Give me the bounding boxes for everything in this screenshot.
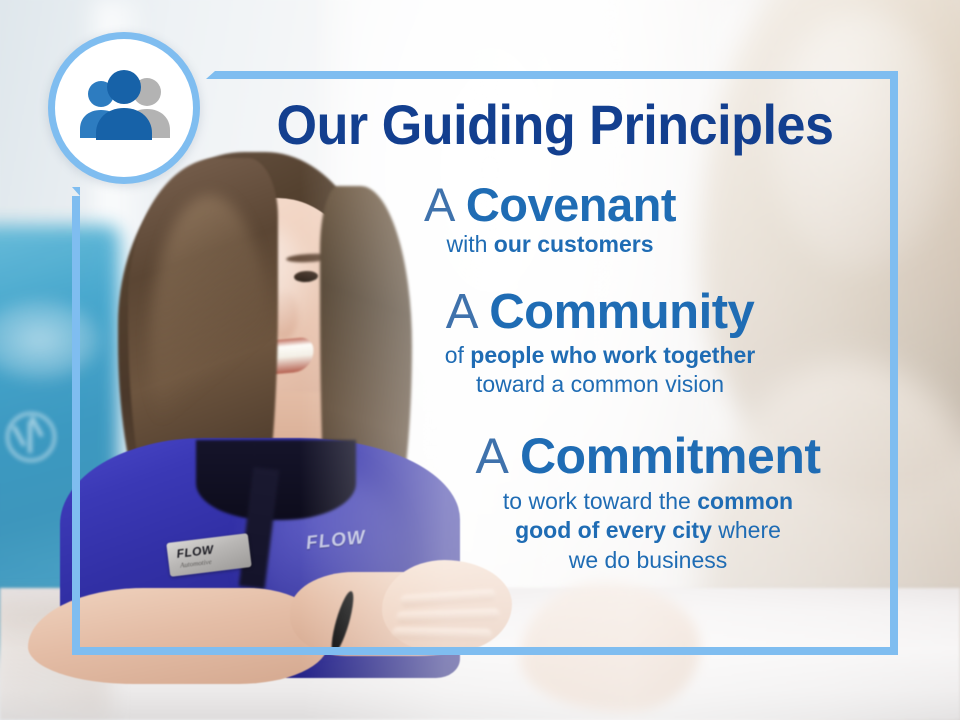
principle-subtext: with our customers <box>220 230 880 259</box>
principle-article: A <box>424 178 453 231</box>
principle-heading: A Commitment <box>416 428 880 485</box>
principle-article: A <box>446 285 476 339</box>
subtext-line2-tail: where <box>712 517 781 543</box>
people-group-icon <box>72 70 176 146</box>
principle-word: Community <box>489 285 754 339</box>
principle-article: A <box>475 428 506 484</box>
subtext-lead: to work toward the <box>503 488 697 514</box>
principle-subtext: to work toward the common good of every … <box>416 487 880 575</box>
frame-right-edge <box>890 71 898 655</box>
principle-heading: A Covenant <box>220 178 880 232</box>
subtext-bold: people who work together <box>470 342 755 368</box>
frame-top-edge <box>215 71 898 79</box>
principle-word: Covenant <box>466 178 676 231</box>
subtext-bold: our customers <box>494 231 654 257</box>
subtext-lead: of <box>445 342 471 368</box>
principle-subtext: of people who work together toward a com… <box>320 341 880 400</box>
principle-word: Commitment <box>520 428 821 484</box>
subtext-line2: toward a common vision <box>476 371 724 397</box>
principle-commitment: A Commitment to work toward the common g… <box>180 428 880 575</box>
subtext-lead: with <box>446 231 493 257</box>
page-title: Our Guiding Principles <box>239 96 871 153</box>
subtext-line3: we do business <box>569 547 728 573</box>
principle-community: A Community of people who work together … <box>180 285 880 400</box>
principle-heading: A Community <box>320 285 880 341</box>
guiding-principles-graphic: FLOW Automotive FLOW <box>0 0 960 720</box>
principles-list: A Covenant with our customers A Communit… <box>180 178 880 579</box>
finger <box>392 627 492 641</box>
principle-covenant: A Covenant with our customers <box>180 178 880 259</box>
people-badge <box>48 32 200 184</box>
subtext-bold-1: common <box>697 488 793 514</box>
frame-left-edge <box>72 196 80 655</box>
frame-bottom-edge <box>72 647 898 655</box>
subtext-bold-2: good of every city <box>515 517 712 543</box>
